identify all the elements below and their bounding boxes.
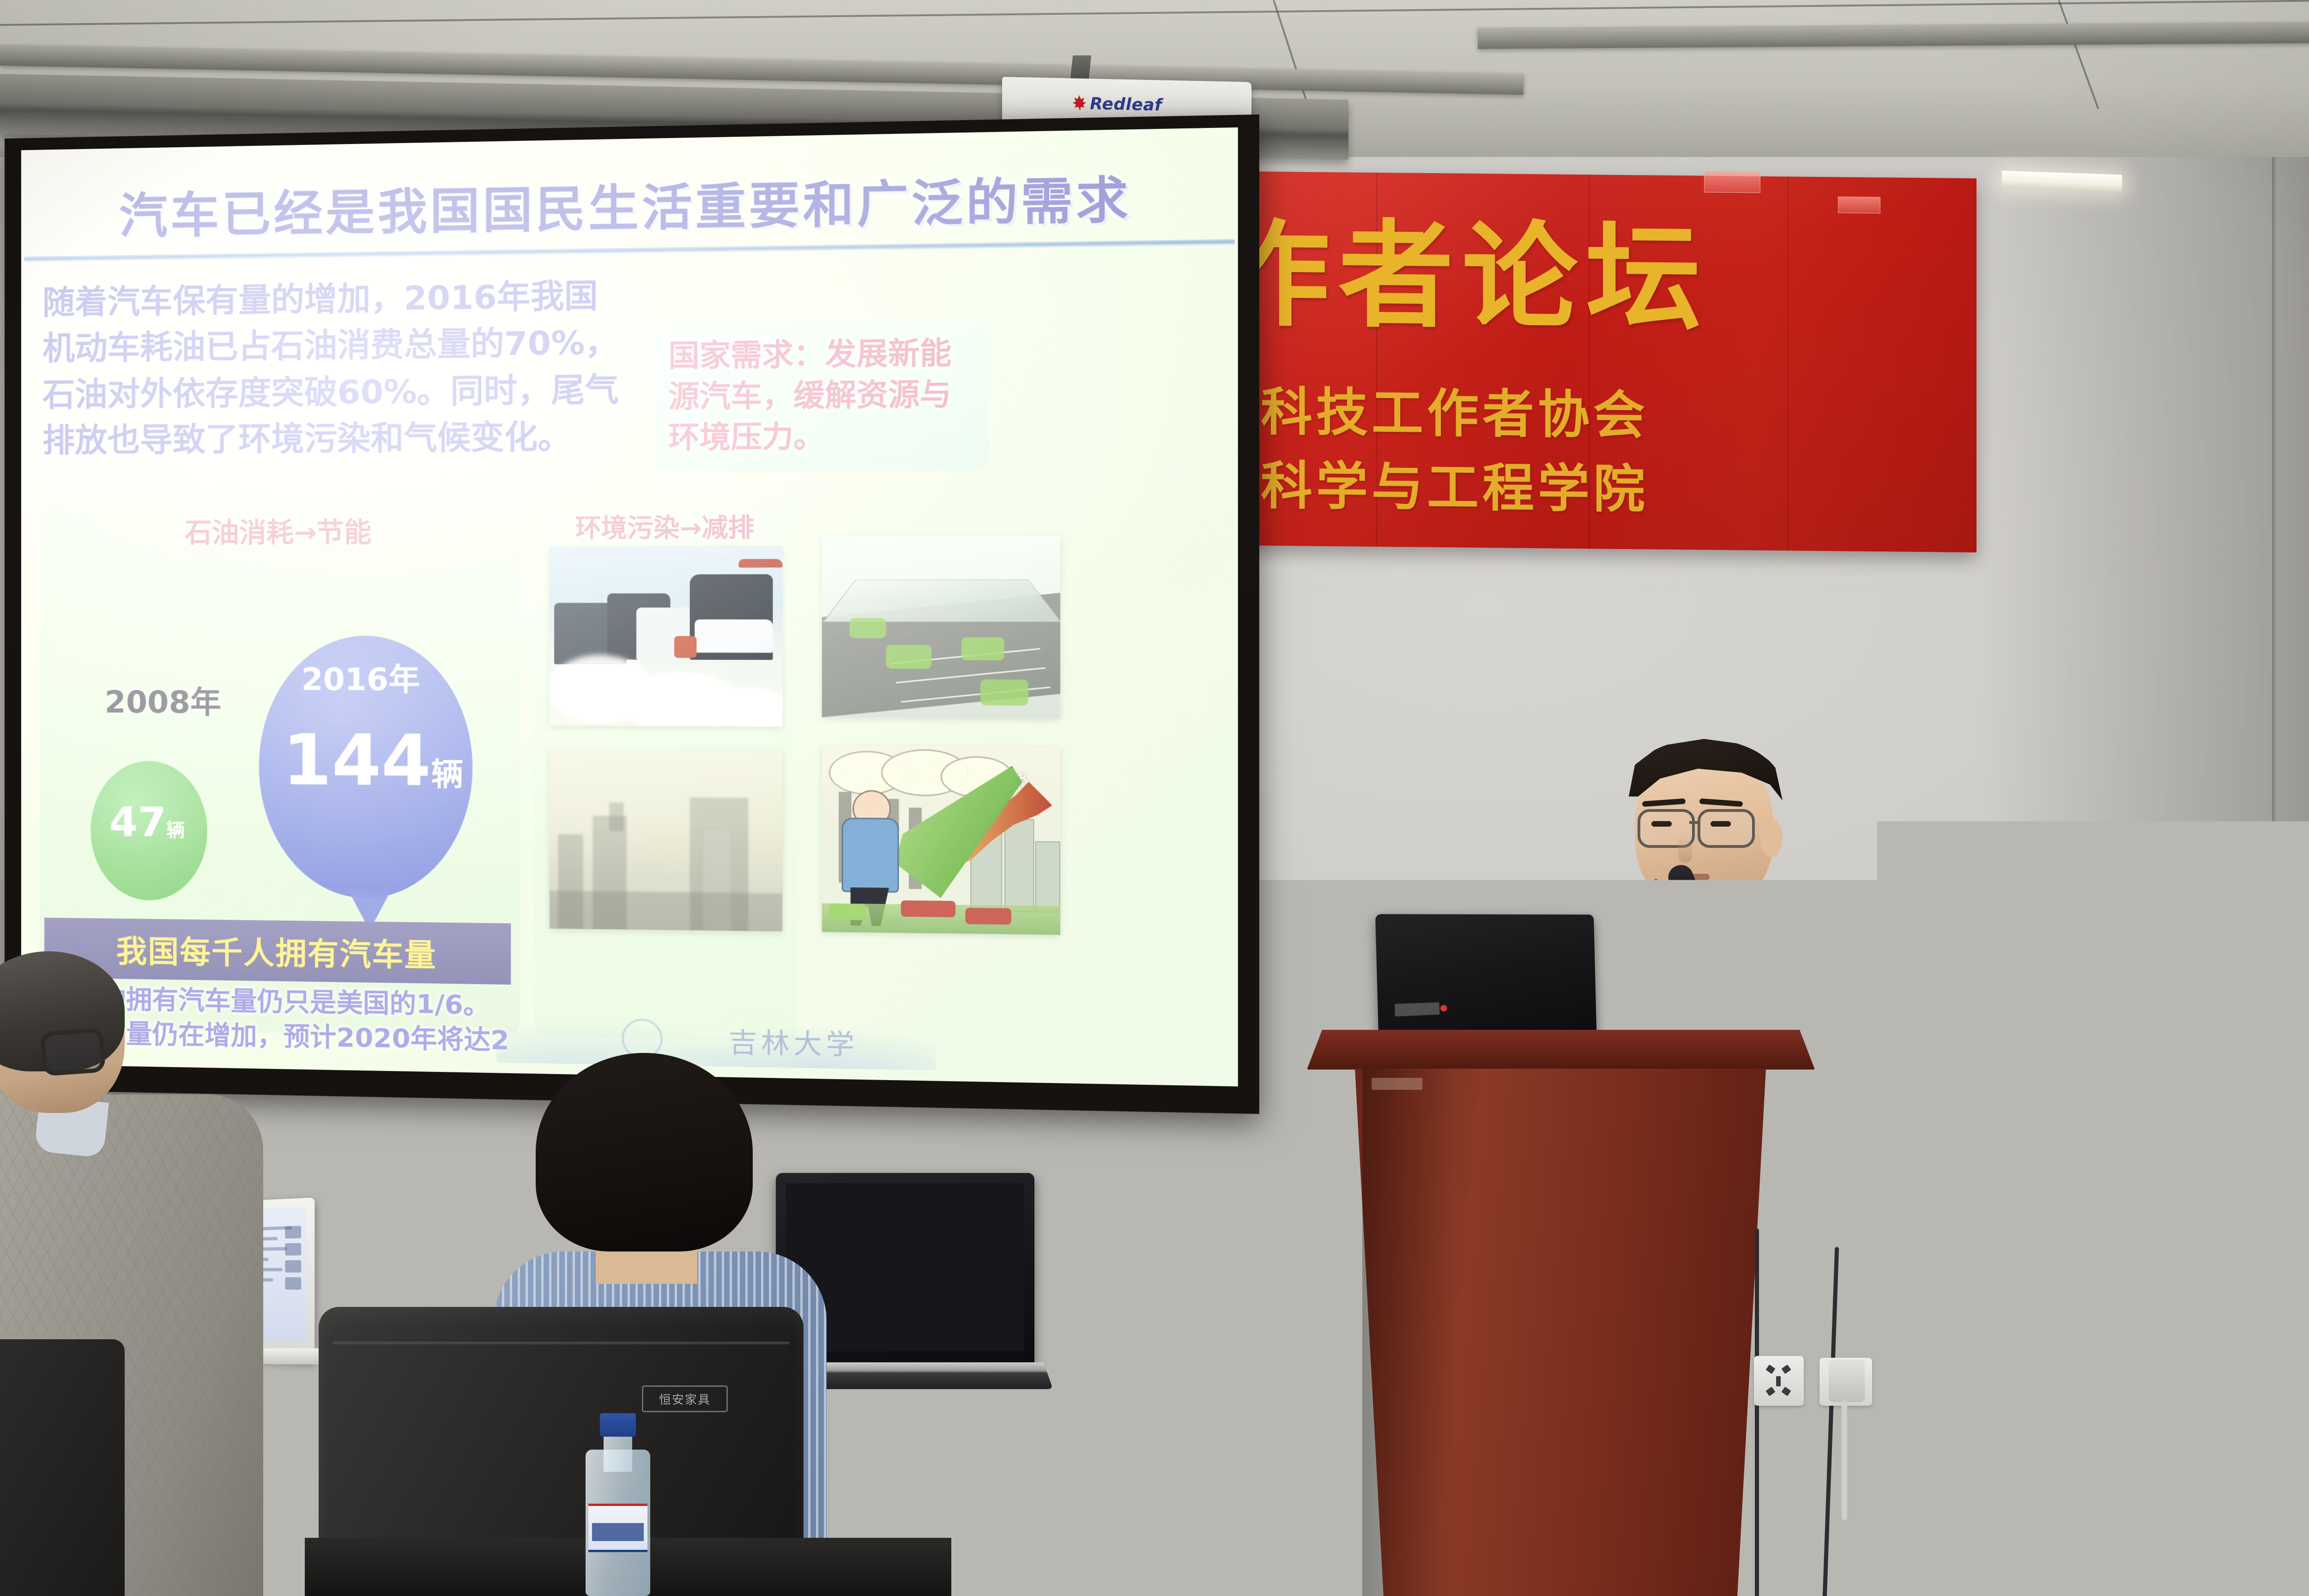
foreground-papers xyxy=(2195,1503,2309,1596)
power-outlet-with-plug xyxy=(1819,1358,1872,1406)
solar-ev-charging-station-illustration xyxy=(822,535,1060,718)
power-outlet xyxy=(1754,1356,1804,1406)
banner-tape xyxy=(1838,196,1880,213)
slide-body-paragraph: 随着汽车保有量的增加，2016年我国机动车耗油已占石油消费总量的70%，石油对外… xyxy=(42,272,620,464)
chair-brand-logo: 恒安家具 xyxy=(642,1385,728,1412)
lecture-room-photo: Redleaf 作者论坛 年科技工作者协会 械科学与工程学院 汽车已经是我国国民… xyxy=(0,0,2309,1596)
bubble-2016-unit: 辆 xyxy=(431,756,463,793)
bubble-label-2016: 2016年 xyxy=(302,654,420,700)
bubble-2008-unit: 辆 xyxy=(166,820,185,841)
presentation-slide: 汽车已经是我国国民生活重要和广泛的需求 随着汽车保有量的增加，2016年我国机动… xyxy=(21,127,1238,1086)
presenter-eye-left xyxy=(1651,821,1672,827)
water-bottle[interactable] xyxy=(586,1413,650,1596)
presenter-nose xyxy=(1678,834,1692,863)
banner-line-2: 年科技工作者协会 xyxy=(1205,369,1649,448)
podium-shadow xyxy=(1362,1069,1455,1596)
smog-city-skyline-photo xyxy=(550,749,783,931)
environment-panel-heading: 环境污染→减排 xyxy=(534,507,796,545)
glasses-bridge xyxy=(1689,821,1699,824)
bubble-2016-value: 144辆 xyxy=(283,720,463,803)
attendee-glasses xyxy=(40,1028,106,1076)
oil-panel-heading: 石油消耗→节能 xyxy=(40,509,520,550)
plug-wire xyxy=(1842,1400,1847,1520)
power-plug xyxy=(1829,1360,1865,1402)
slide-title: 汽车已经是我国国民生活重要和广泛的需求 xyxy=(21,157,1238,248)
attendee-b-hair xyxy=(536,1053,753,1251)
oil-consumption-panel: 石油消耗→节能 2008年 47辆 2016年 144辆 我国每千人拥有汽车量 … xyxy=(40,499,520,1037)
banner-line-3: 械科学与工程学院 xyxy=(1205,443,1649,522)
foreground-chair xyxy=(2207,1330,2309,1524)
thinkpad-logo-dot xyxy=(1440,1005,1447,1012)
glasses-lens-right xyxy=(1698,809,1755,848)
equipment-cable xyxy=(1940,1118,1944,1376)
chair xyxy=(0,1339,125,1596)
banner-tape xyxy=(1704,171,1760,193)
wooden-podium xyxy=(1307,1030,1815,1596)
bubble-label-2008: 2008年 xyxy=(105,677,222,722)
projector-brand-label: Redleaf xyxy=(1090,94,1162,115)
presenter-eye-right xyxy=(1711,821,1731,827)
low-carbon-economy-cartoon: 低碳经济 xyxy=(822,746,1060,935)
podium-top-surface xyxy=(1307,1030,1815,1070)
national-need-callout: 国家需求：发展新能源汽车，缓解资源与环境压力。 xyxy=(656,320,989,473)
presenter-laptop[interactable] xyxy=(1375,914,1596,1045)
thinkpad-logo xyxy=(1395,1002,1439,1016)
chair-seam xyxy=(332,1342,790,1344)
maple-leaf-icon xyxy=(1072,95,1086,111)
banner-line-1: 作者论坛 xyxy=(1215,180,1710,352)
presenter-ear xyxy=(1760,819,1783,857)
wall-cable xyxy=(1755,1228,1759,1596)
usb-flash-drive[interactable] xyxy=(2073,1239,2097,1252)
bubble-2008-value: 47辆 xyxy=(109,798,185,846)
red-event-banner: 作者论坛 年科技工作者协会 械科学与工程学院 xyxy=(1182,171,1977,553)
traffic-jam-exhaust-photo xyxy=(550,545,783,726)
podium-plate xyxy=(1372,1078,1422,1090)
